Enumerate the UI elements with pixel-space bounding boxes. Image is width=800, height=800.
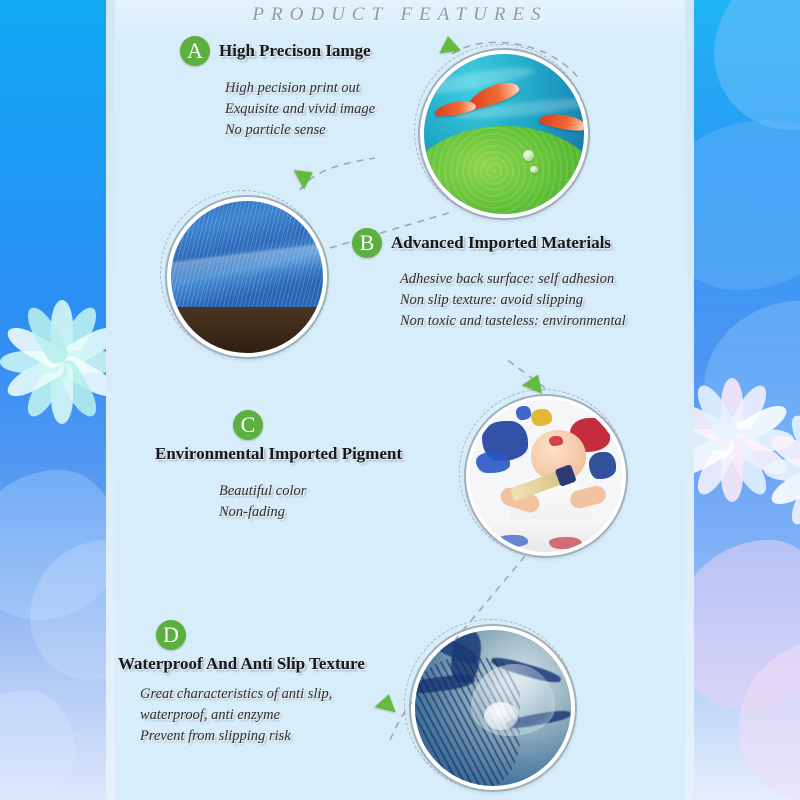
feature-b-line-1: Adhesive back surface: self adhesion: [400, 269, 626, 290]
feature-c-badge: C: [233, 410, 263, 440]
feature-block-b: B Advanced Imported Materials Adhesive b…: [352, 228, 626, 332]
feature-b-line-3: Non toxic and tasteless: environmental: [400, 311, 626, 332]
feature-b-title: Advanced Imported Materials: [391, 233, 611, 253]
photo-baby-painting: [466, 396, 626, 556]
feature-a-heading: A High Precison Iamge: [180, 36, 375, 66]
right-seam: [685, 0, 694, 800]
feature-c-line-2: Non-fading: [219, 502, 402, 523]
feature-b-lines: Adhesive back surface: self adhesion Non…: [400, 269, 626, 332]
feature-a-title: High Precison Iamge: [219, 41, 371, 61]
feature-a-line-1: High pecision print out: [225, 78, 375, 99]
photo-koi-fish-pond: [420, 50, 588, 218]
right-blob-2: [694, 120, 800, 290]
feature-c-heading: C Environmental Imported Pigment: [155, 410, 402, 464]
feature-b-line-2: Non slip texture: avoid slipping: [400, 290, 626, 311]
feature-a-badge: A: [180, 36, 210, 66]
photo-waterproof-texture: [411, 626, 575, 790]
feature-block-c: C Environmental Imported Pigment Beautif…: [155, 410, 402, 523]
left-decorative-panel: [0, 0, 106, 800]
photo-blue-fabric-backing: [167, 197, 327, 357]
feature-d-line-2: waterproof, anti enzyme: [140, 705, 365, 726]
feature-a-lines: High pecision print out Exquisite and vi…: [225, 78, 375, 141]
feature-block-a: A High Precison Iamge High pecision prin…: [180, 36, 375, 141]
feature-d-line-1: Great characteristics of anti slip,: [140, 684, 365, 705]
feature-c-line-1: Beautiful color: [219, 481, 402, 502]
infographic-canvas: PRODUCT FEATURES: [0, 0, 800, 800]
right-blob-1: [714, 0, 800, 130]
feature-d-lines: Great characteristics of anti slip, wate…: [140, 684, 365, 747]
green-triangle-arrow-a: [437, 35, 461, 54]
feature-d-line-3: Prevent from slipping risk: [140, 726, 365, 747]
feature-b-heading: B Advanced Imported Materials: [352, 228, 626, 258]
feature-block-d: D Waterproof And Anti Slip Texture Great…: [118, 620, 365, 747]
page-title: PRODUCT FEATURES: [115, 4, 685, 26]
feature-b-badge: B: [352, 228, 382, 258]
feature-c-lines: Beautiful color Non-fading: [219, 481, 402, 523]
left-blob-3: [0, 690, 75, 800]
left-seam: [106, 0, 115, 800]
feature-a-line-3: No particle sense: [225, 120, 375, 141]
feature-c-title: Environmental Imported Pigment: [155, 444, 402, 464]
feature-d-badge: D: [156, 620, 186, 650]
feature-d-heading: D Waterproof And Anti Slip Texture: [118, 620, 365, 674]
right-decorative-panel: [694, 0, 800, 800]
feature-d-title: Waterproof And Anti Slip Texture: [118, 654, 365, 674]
feature-a-line-2: Exquisite and vivid image: [225, 99, 375, 120]
